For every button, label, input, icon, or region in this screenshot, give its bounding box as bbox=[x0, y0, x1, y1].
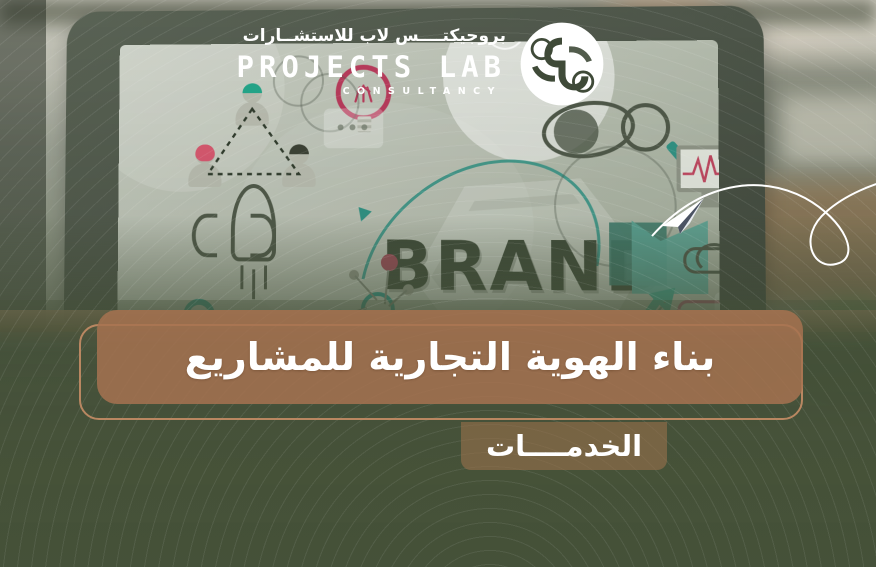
subtitle-banner: الخدمــــات bbox=[461, 422, 667, 470]
subtitle-text: الخدمــــات bbox=[486, 432, 642, 461]
paper-plane-icon bbox=[660, 196, 706, 236]
page-title: بناء الهوية التجارية للمشاريع bbox=[185, 338, 716, 376]
logo-arabic-text: بروجيكتــــس لاب للاستشــارات bbox=[243, 26, 506, 46]
logo-tagline-text: CONSULTANCY bbox=[343, 86, 502, 97]
brand-logo[interactable]: بروجيكتــــس لاب للاستشــارات PROJECTS L… bbox=[268, 26, 598, 108]
logo-english-text: PROJECTS LAB bbox=[236, 50, 506, 84]
projects-lab-monogram-icon bbox=[518, 20, 606, 108]
title-banner: بناء الهوية التجارية للمشاريع bbox=[97, 310, 803, 404]
poster-canvas: BRAND bbox=[0, 0, 876, 567]
